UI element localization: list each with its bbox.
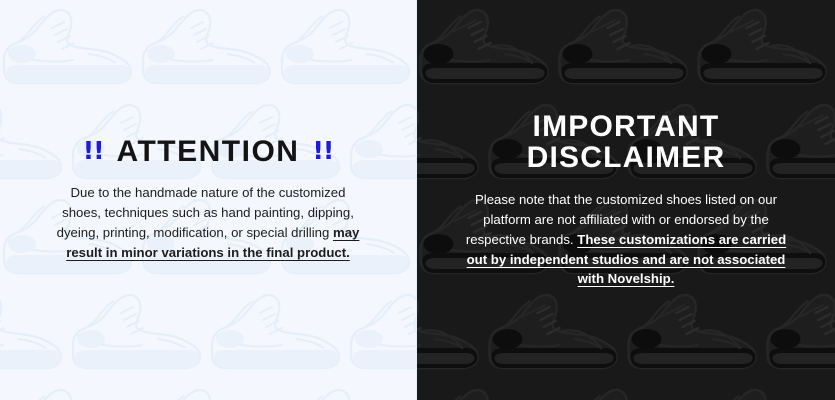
exclamation-icon-left: !! bbox=[83, 138, 104, 163]
attention-content: !! ATTENTION !! Due to the handmade natu… bbox=[0, 0, 416, 400]
disclaimer-title: IMPORTANT DISCLAIMER bbox=[527, 111, 726, 173]
attention-panel: !! ATTENTION !! Due to the handmade natu… bbox=[0, 0, 416, 400]
disclaimer-panel: IMPORTANT DISCLAIMER Please note that th… bbox=[416, 0, 835, 400]
disclaimer-title-line2: DISCLAIMER bbox=[527, 142, 726, 173]
disclaimer-content: IMPORTANT DISCLAIMER Please note that th… bbox=[417, 0, 835, 400]
attention-title: ATTENTION bbox=[117, 137, 300, 168]
exclamation-icon-right: !! bbox=[312, 138, 333, 163]
disclaimer-title-line1: IMPORTANT bbox=[527, 111, 726, 142]
disclaimer-banner: !! ATTENTION !! Due to the handmade natu… bbox=[0, 0, 835, 400]
disclaimer-body: Please note that the customized shoes li… bbox=[465, 190, 787, 289]
attention-body-plain: Due to the handmade nature of the custom… bbox=[57, 185, 354, 240]
attention-heading-row: !! ATTENTION !! bbox=[83, 137, 334, 168]
attention-body: Due to the handmade nature of the custom… bbox=[52, 183, 364, 263]
